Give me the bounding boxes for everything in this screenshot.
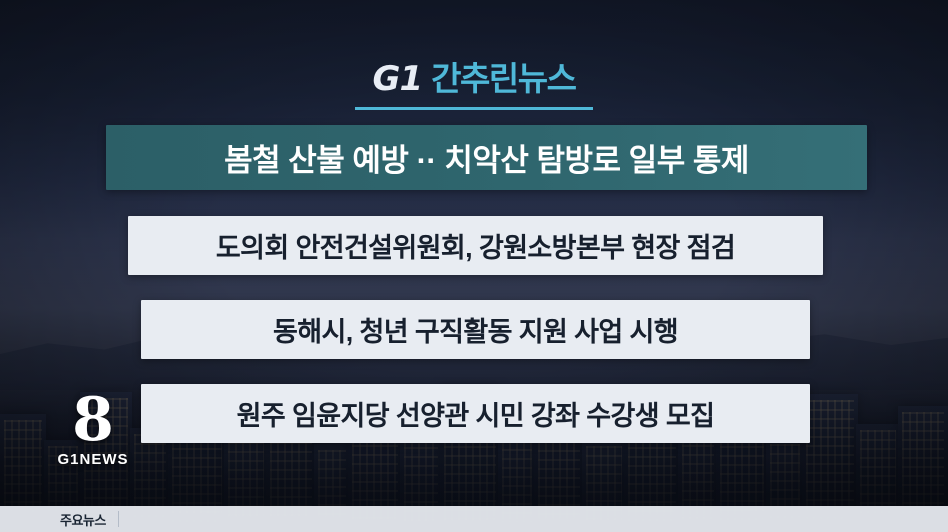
logo-mark: G1 xyxy=(373,59,423,99)
headline-bar-secondary-3: 원주 임윤지당 선양관 시민 강좌 수강생 모집 xyxy=(141,384,810,443)
ticker-label: 주요뉴스 xyxy=(0,510,106,529)
broadcast-screen: G1간추린뉴스 봄철 산불 예방 ·· 치악산 탐방로 일부 통제 도의회 안전… xyxy=(0,0,948,532)
program-logo: G1간추린뉴스 xyxy=(0,62,948,112)
headline-bar-secondary-2: 동해시, 청년 구직활동 지원 사업 시행 xyxy=(141,300,810,359)
headline-bar-primary: 봄철 산불 예방 ·· 치악산 탐방로 일부 통제 xyxy=(106,125,867,190)
headline-text: 도의회 안전건설위원회, 강원소방본부 현장 점검 xyxy=(216,226,735,265)
logo-underline xyxy=(355,107,593,110)
logo-program-name: 간추린뉴스 xyxy=(431,60,575,97)
bottom-ticker: 주요뉴스 xyxy=(0,506,948,532)
channel-number: 8 xyxy=(50,392,136,449)
ticker-divider xyxy=(118,511,119,527)
logo-line: G1간추린뉴스 xyxy=(373,62,576,96)
headline-text: 동해시, 청년 구직활동 지원 사업 시행 xyxy=(273,310,678,349)
channel-bug: 8 G1NEWS xyxy=(50,392,136,468)
headline-bar-secondary-1: 도의회 안전건설위원회, 강원소방본부 현장 점검 xyxy=(128,216,823,275)
channel-name: G1NEWS xyxy=(50,451,136,468)
headline-text: 원주 임윤지당 선양관 시민 강좌 수강생 모집 xyxy=(237,394,715,433)
headline-text: 봄철 산불 예방 ·· 치악산 탐방로 일부 통제 xyxy=(224,135,749,180)
